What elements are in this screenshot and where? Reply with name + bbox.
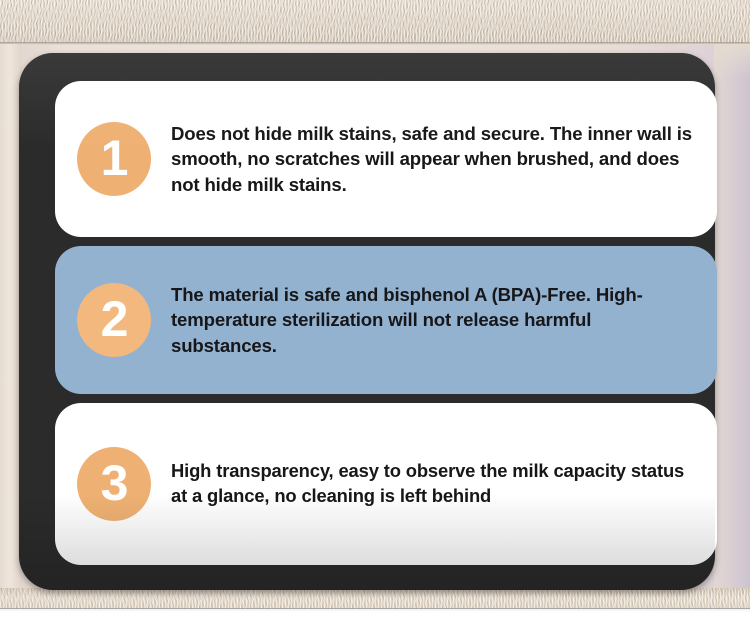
- feature-card-3-number: 3: [101, 458, 128, 508]
- feature-card-2-number: 2: [101, 294, 128, 344]
- background-strip-right: [714, 44, 750, 592]
- number-badge-icon: 2: [77, 283, 151, 357]
- feature-card-3-text: High transparency, easy to observe the m…: [171, 459, 699, 509]
- background-texture-bottom: [0, 588, 750, 610]
- number-badge-icon: 1: [77, 122, 151, 196]
- feature-panel-frame: 1 Does not hide milk stains, safe and se…: [19, 53, 715, 590]
- number-badge-icon: 3: [77, 447, 151, 521]
- feature-card-1-number: 1: [101, 133, 128, 183]
- background-texture-top: [0, 0, 750, 44]
- feature-card-2: 2 The material is safe and bisphenol A (…: [55, 246, 717, 394]
- product-feature-graphic: 1 Does not hide milk stains, safe and se…: [0, 0, 750, 618]
- feature-card-1: 1 Does not hide milk stains, safe and se…: [55, 81, 717, 237]
- feature-card-1-text: Does not hide milk stains, safe and secu…: [171, 121, 699, 196]
- background-seam-line-top: [0, 42, 750, 45]
- feature-card-2-text: The material is safe and bisphenol A (BP…: [171, 282, 699, 357]
- background-strip-bottom: [0, 609, 750, 618]
- feature-card-3: 3 High transparency, easy to observe the…: [55, 403, 717, 565]
